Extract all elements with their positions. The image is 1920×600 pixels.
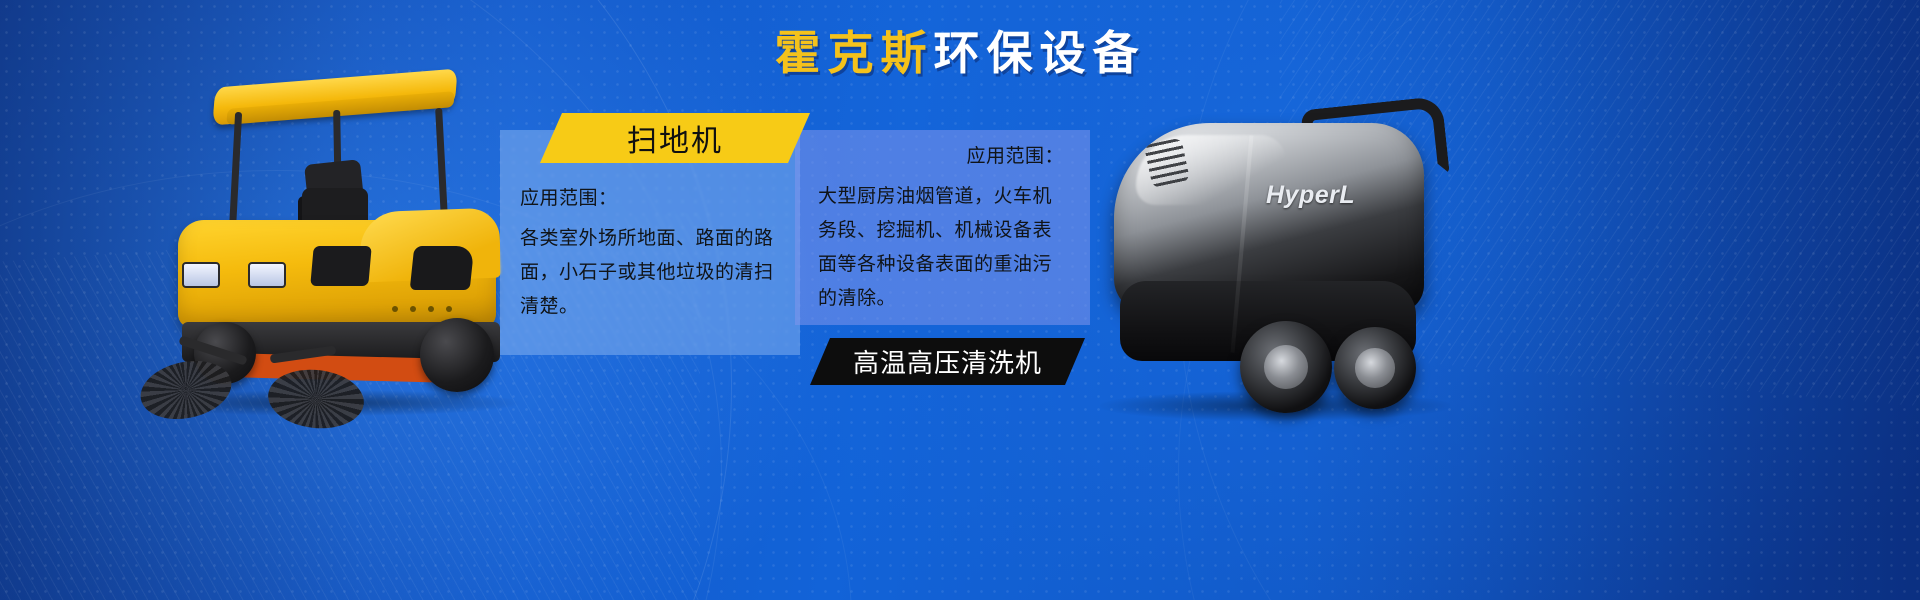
washer-wheel-right — [1334, 327, 1416, 409]
promotional-banner: 霍克斯环保设备 扫地机 应用范围： 各类室 — [0, 0, 1920, 600]
sweeper-description: 应用范围： 各类室外场所地面、路面的路面，小石子或其他垃圾的清扫清楚。 — [520, 182, 780, 324]
sweeper-rear-wheel — [420, 318, 494, 392]
sweeper-side-panel-right — [410, 246, 475, 290]
washer-product-tag[interactable]: 高温高压清洗机 — [810, 338, 1085, 385]
washer-description-body: 大型厨房油烟管道，火车机务段、挖掘机、机械设备表面等各种设备表面的重油污的清除。 — [818, 180, 1070, 316]
sweeper-side-panel-left — [310, 246, 371, 286]
sweeper-product-tag[interactable]: 扫地机 — [540, 113, 810, 163]
sweeper-product-tag-label: 扫地机 — [627, 116, 723, 160]
sweeper-description-body: 各类室外场所地面、路面的路面，小石子或其他垃圾的清扫清楚。 — [520, 222, 780, 324]
headline-brand-text: 霍克斯 — [775, 27, 934, 79]
sweeper-roll-bar-front — [229, 112, 242, 232]
washer-description: 应用范围： 大型厨房油烟管道，火车机务段、挖掘机、机械设备表面等各种设备表面的重… — [818, 140, 1070, 316]
sweeper-headlight-left — [182, 262, 220, 288]
washer-brand-label: HyperL — [1266, 181, 1355, 210]
headline-category-text: 环保设备 — [934, 27, 1146, 79]
washer-product-tag-label: 高温高压清洗机 — [853, 343, 1042, 380]
washer-description-heading: 应用范围： — [818, 140, 1070, 174]
sweeper-machine-image — [120, 70, 520, 410]
sweeper-body-rivets — [392, 306, 458, 314]
washer-wheel-left — [1240, 321, 1332, 413]
sweeper-roll-bar-rear — [435, 108, 448, 218]
sweeper-headlight-right — [248, 262, 286, 288]
sweeper-description-heading: 应用范围： — [520, 182, 780, 216]
washer-machine-image: HyperL — [1090, 95, 1460, 425]
